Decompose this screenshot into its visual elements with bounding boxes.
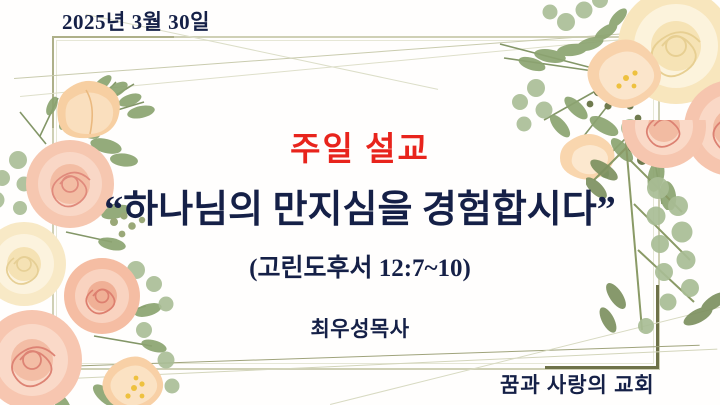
poster-kicker: 주일 설교 — [0, 122, 720, 170]
rose-cream-top — [618, 0, 720, 104]
sermon-poster: 2025년 3월 30일 주일 설교 “하나님의 만지심을 경험합시다” (고린… — [0, 0, 720, 405]
scripture-reference: (고린도후서 12:7~10) — [0, 248, 720, 284]
poster-date: 2025년 3월 30일 — [62, 6, 210, 36]
hairline-upper-diagonal-2 — [20, 28, 720, 97]
hairline-lower-diagonal-1 — [0, 345, 700, 369]
frame-corner-top-left — [52, 36, 174, 128]
church-name: 꿈과 사랑의 교회 — [500, 369, 655, 399]
bloom-apricot-top — [587, 39, 661, 108]
poster-title: “하나님의 만지심을 경험합시다” — [0, 178, 720, 233]
bloom-apricot — [102, 356, 163, 405]
preacher-name: 최우성목사 — [0, 313, 720, 343]
